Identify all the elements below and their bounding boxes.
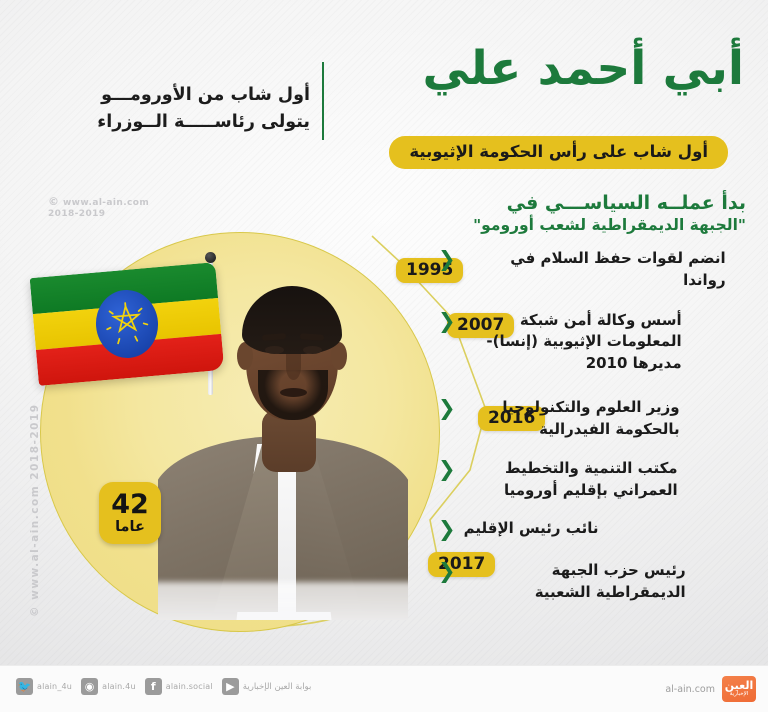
portrait-eye-right — [303, 346, 322, 354]
title-badge: أول شاب على رأس الحكومة الإثيوبية — [389, 136, 728, 169]
timeline-item-text: وزير العلوم والتكنولوجيا بالحكومة الفيدر… — [464, 397, 680, 441]
timeline-item[interactable]: وزير العلوم والتكنولوجيا بالحكومة الفيدر… — [438, 397, 768, 441]
portrait-hair — [242, 286, 342, 354]
timeline-item[interactable]: أسس وكالة أمن شبكة المعلومات الإثيوبية (… — [438, 310, 768, 375]
flag-star-icon — [103, 300, 151, 348]
timeline-item-text: رئيس حزب الجبهة الديمقراطية الشعبية — [464, 560, 686, 604]
facebook-icon: f — [145, 678, 162, 695]
age-badge: 42 عاما — [99, 482, 161, 544]
infographic-canvas: أبي أحمد علي أول شاب على رأس الحكومة الإ… — [0, 0, 768, 712]
al-ain-logo-icon: العين الإخبارية — [722, 676, 756, 702]
chevron-left-icon: ❮ — [438, 560, 456, 582]
timeline: بدأ عملــه السياســـي في "الجبهة الديمقر… — [438, 192, 768, 603]
header: أبي أحمد علي أول شاب على رأس الحكومة الإ… — [0, 0, 768, 176]
instagram-icon: ◉ — [81, 678, 98, 695]
timeline-intro-line1: بدأ عملــه السياســـي في — [438, 192, 746, 214]
copyright-icon: © — [48, 195, 59, 208]
timeline-intro: بدأ عملــه السياســـي في "الجبهة الديمقر… — [438, 192, 768, 234]
ethiopia-flag-icon — [30, 262, 225, 386]
chevron-left-icon: ❮ — [438, 310, 456, 332]
watermark-top-url: www.al-ain.com — [63, 198, 149, 208]
timeline-item-text: انضم لقوات حفظ السلام في رواندا — [464, 248, 726, 292]
header-subtitle-line1: أول شاب من الأورومـــو — [80, 82, 310, 109]
timeline-item[interactable]: مكتب التنمية والتخطيط العمراني بإقليم أو… — [438, 458, 768, 502]
social-link-youtube[interactable]: ▶ بوابة العين الإخبارية — [222, 678, 312, 695]
watermark-top: © www.al-ain.com 2018-2019 — [48, 196, 149, 219]
footer: 🐦 alain_4u ◉ alain.4u f alain.social ▶ ب… — [0, 665, 768, 712]
portrait-mouth — [280, 388, 307, 397]
twitter-icon: 🐦 — [16, 678, 33, 695]
social-link-facebook[interactable]: f alain.social — [145, 678, 213, 695]
social-label-youtube: بوابة العين الإخبارية — [243, 682, 312, 692]
chevron-left-icon: ❮ — [438, 518, 456, 540]
portrait-circle — [40, 232, 440, 632]
timeline-item[interactable]: انضم لقوات حفظ السلام في رواندا ❮ — [438, 248, 768, 292]
chevron-left-icon: ❮ — [438, 458, 456, 480]
portrait-table — [158, 582, 408, 620]
social-link-twitter[interactable]: 🐦 alain_4u — [16, 678, 72, 695]
header-divider — [322, 62, 324, 140]
social-label-instagram: alain.4u — [102, 682, 136, 691]
social-label-facebook: alain.social — [166, 682, 213, 691]
brand-logo-main: العين — [725, 680, 754, 691]
brand-block[interactable]: al-ain.com العين الإخبارية — [665, 676, 756, 702]
age-number: 42 — [111, 491, 149, 518]
timeline-item-text: مكتب التنمية والتخطيط العمراني بإقليم أو… — [464, 458, 678, 502]
header-subtitle: أول شاب من الأورومـــو يتولى رئاســـــة … — [80, 82, 310, 136]
social-link-instagram[interactable]: ◉ alain.4u — [81, 678, 136, 695]
watermark-top-years: 2018-2019 — [48, 209, 149, 219]
header-subtitle-line2: يتولى رئاســـــة الــوزراء — [80, 109, 310, 136]
brand-logo-sub: الإخبارية — [730, 692, 749, 698]
page-title: أبي أحمد علي — [422, 44, 744, 95]
social-links: 🐦 alain_4u ◉ alain.4u f alain.social ▶ ب… — [16, 678, 311, 695]
portrait-nose — [286, 354, 301, 380]
chevron-left-icon: ❮ — [438, 397, 456, 419]
brand-url: al-ain.com — [665, 684, 715, 695]
timeline-item-text: نائب رئيس الإقليم — [464, 518, 599, 540]
youtube-icon: ▶ — [222, 678, 239, 695]
age-unit: عاما — [115, 520, 145, 535]
social-label-twitter: alain_4u — [37, 682, 72, 691]
timeline-item-text: أسس وكالة أمن شبكة المعلومات الإثيوبية (… — [464, 310, 682, 375]
timeline-intro-line2: "الجبهة الديمقراطية لشعب أورومو" — [438, 216, 746, 234]
timeline-item[interactable]: نائب رئيس الإقليم ❮ — [438, 518, 768, 540]
timeline-item[interactable]: رئيس حزب الجبهة الديمقراطية الشعبية ❮ — [438, 560, 768, 604]
chevron-left-icon: ❮ — [438, 248, 456, 270]
portrait-eye-left — [265, 346, 284, 354]
